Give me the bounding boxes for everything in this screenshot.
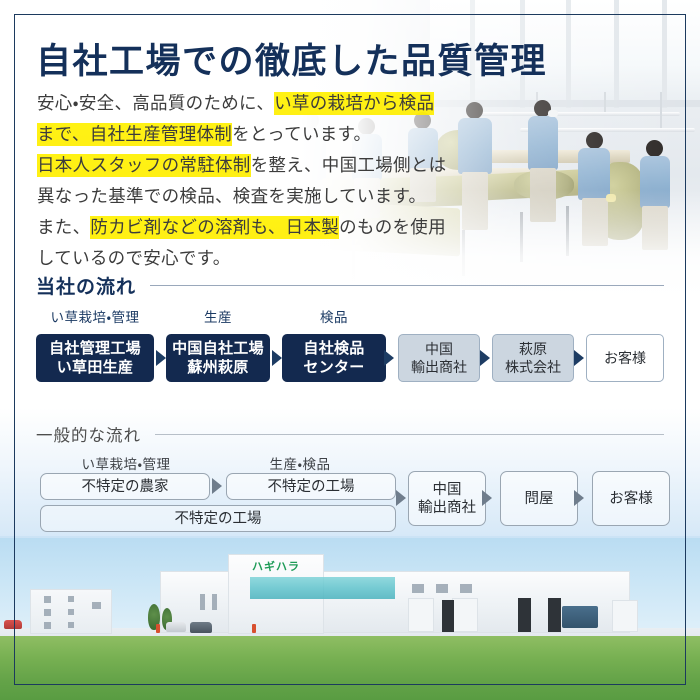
flow-box[interactable]: 問屋 [500, 471, 578, 526]
flow-box[interactable]: お客様 [592, 471, 670, 526]
building-window [68, 609, 74, 615]
fire-hydrant [156, 624, 160, 633]
flow-box-line2: センター [303, 358, 364, 377]
body-text: をとっています。 [232, 124, 371, 144]
flow-box-line1: お客様 [604, 349, 646, 367]
flow-box[interactable]: 自社検品センター [282, 334, 386, 382]
flow-box-line1: お客様 [609, 490, 653, 508]
flow-arrow-icon [574, 490, 584, 506]
flow-box-line2: 蘇州萩原 [187, 358, 248, 377]
dock-door [548, 598, 561, 632]
flow-box-line1: 不特定の工場 [268, 478, 355, 496]
highlighted-text: まで、自社生産管理体制 [37, 123, 232, 146]
flow-box[interactable]: お客様 [586, 334, 664, 382]
flow-arrow-icon [480, 350, 490, 366]
general-flow-title: 一般的な流れ [36, 422, 141, 446]
building-window [212, 594, 217, 610]
our-flow-title: 当社の流れ [36, 272, 136, 299]
general-flow-section: 一般的な流れ い草栽培・管理生産・検品 不特定の農家不特定の工場不特定の工場中国… [0, 408, 700, 538]
flow-box-line1: 中国 [425, 340, 453, 358]
flow-arrow-icon [272, 350, 282, 366]
body-text: を整え、中国工場側とは [251, 155, 447, 175]
parked-car [4, 620, 22, 629]
flow-column-caption: い草栽培・管理 [36, 306, 154, 326]
flow-box-line1: 萩原 [519, 340, 547, 358]
flow-box[interactable]: 不特定の農家 [40, 473, 210, 500]
fire-hydrant [252, 624, 256, 633]
flow-arrow-icon [396, 490, 406, 506]
photo-lawn [0, 636, 700, 700]
dock-door [518, 598, 531, 632]
building-window [412, 584, 424, 593]
flow-box[interactable]: 不特定の工場 [40, 505, 396, 532]
building-window [436, 584, 448, 593]
flow-box-line2: い草田生産 [57, 358, 134, 377]
flow-arrow-icon [156, 350, 166, 366]
flow-box-line2: 輸出商社 [411, 358, 467, 376]
factory-exterior-photo: ハギハラ [0, 536, 700, 700]
body-line: まで、自社生産管理体制をとっています。 [37, 119, 507, 150]
body-text: また、 [37, 217, 90, 237]
body-line: 異なった基準での検品、検査を実施しています。 [37, 181, 507, 212]
flow-arrow-icon [384, 350, 394, 366]
flow-box[interactable]: 中国輸出商社 [408, 471, 486, 526]
highlighted-text: 防カビ剤などの溶剤も、日本製 [90, 216, 339, 239]
flow-arrow-icon [212, 478, 222, 494]
building-window [92, 602, 101, 609]
flow-box[interactable]: 中国自社工場蘇州萩原 [166, 334, 270, 382]
body-paragraph: 安心・安全、高品質のために、い草の栽培から検品まで、自社生産管理体制をとっていま… [37, 88, 507, 274]
delivery-truck [562, 606, 598, 628]
body-line: また、防カビ剤などの溶剤も、日本製のものを使用 [37, 212, 507, 243]
body-line: 安心・安全、高品質のために、い草の栽培から検品 [37, 88, 507, 119]
body-line: 日本人スタッフの常駐体制を整え、中国工場側とは [37, 150, 507, 181]
flow-box-line2: 輸出商社 [418, 499, 476, 517]
page-title: 自社工場での徹底した品質管理 [36, 33, 547, 84]
body-text: 異なった基準での検品、検査を実施しています。 [37, 186, 426, 206]
flow-box-line1: 問屋 [525, 490, 554, 508]
factory-glass-facade [250, 577, 395, 599]
infographic-page: 自社工場での徹底した品質管理 安心・安全、高品質のために、い草の栽培から検品まで… [0, 0, 700, 700]
flow-box-line1: 自社管理工場 [49, 339, 141, 358]
flow-column-caption: 検品 [282, 306, 386, 326]
flow-box[interactable]: 不特定の工場 [226, 473, 396, 500]
flow-box-line1: 中国自社工場 [172, 339, 264, 358]
loading-dock [612, 600, 638, 632]
body-text: 安心・安全、高品質のために、 [37, 93, 274, 113]
loading-dock [408, 598, 434, 632]
building-window [44, 596, 51, 603]
body-line: しているので安心です。 [37, 243, 507, 274]
flow-box-line1: 不特定の農家 [82, 478, 169, 496]
body-text: のものを使用 [339, 217, 446, 237]
flow-arrow-icon [482, 490, 492, 506]
parked-car [190, 622, 212, 633]
general-flow-heading: 一般的な流れ [36, 422, 664, 446]
loading-dock [452, 598, 478, 632]
flow-box-line1: 中国 [433, 481, 462, 499]
flow-column-caption: 生産・検品 [230, 453, 370, 473]
flow-column-caption: 生産 [166, 306, 270, 326]
flow-box[interactable]: 自社管理工場い草田生産 [36, 334, 154, 382]
highlighted-text: 日本人スタッフの常駐体制 [37, 154, 251, 177]
company-sign: ハギハラ [252, 558, 300, 574]
highlighted-text: い草の栽培から検品 [274, 92, 434, 115]
flow-box-line1: 自社検品 [303, 339, 364, 358]
our-flow-heading: 当社の流れ [36, 272, 664, 299]
building-window [68, 596, 74, 602]
flow-box[interactable]: 萩原株式会社 [492, 334, 574, 382]
heading-rule [155, 434, 664, 435]
flow-arrow-icon [574, 350, 584, 366]
building-window [460, 584, 472, 593]
dock-door [442, 600, 454, 632]
flow-box-line2: 株式会社 [505, 358, 561, 376]
building-window [68, 622, 74, 628]
parked-car [166, 622, 186, 632]
building-window [200, 594, 205, 610]
flow-box[interactable]: 中国輸出商社 [398, 334, 480, 382]
body-text: しているので安心です。 [37, 248, 231, 268]
heading-rule [150, 285, 664, 286]
our-flow-section: 当社の流れ い草栽培・管理生産検品 自社管理工場い草田生産中国自社工場蘇州萩原自… [0, 272, 700, 407]
building-window [44, 609, 51, 616]
building-window [44, 622, 51, 629]
flow-column-caption: い草栽培・管理 [56, 453, 196, 473]
flow-box-line1: 不特定の工場 [175, 510, 262, 528]
